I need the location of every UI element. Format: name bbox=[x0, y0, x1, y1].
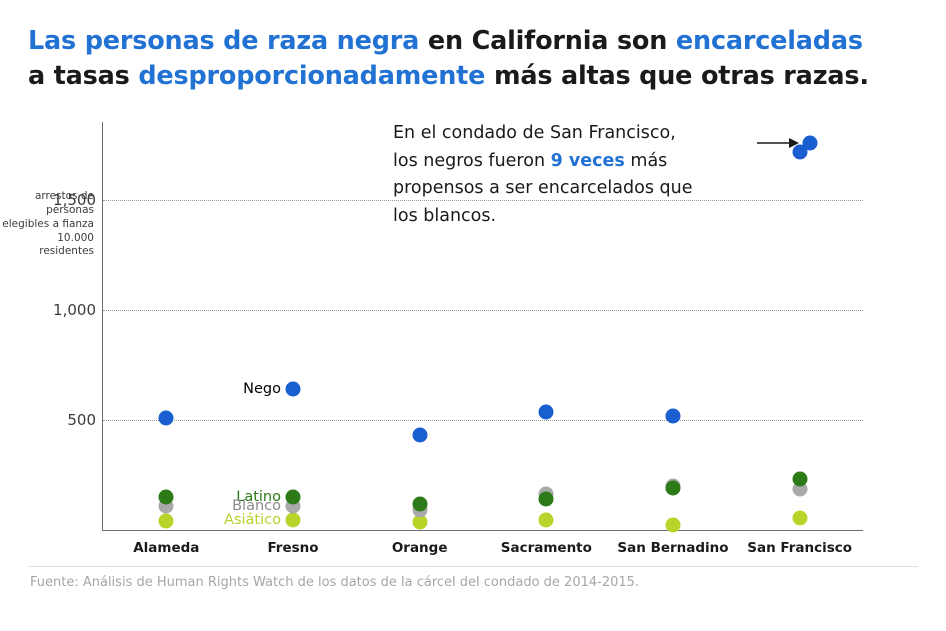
y-tick-label-1000: 1,000 bbox=[2, 301, 96, 319]
data-point-latino-sacramento[interactable] bbox=[539, 492, 554, 507]
x-tick-label-orange: Orange bbox=[392, 540, 448, 556]
right-arrow-icon bbox=[757, 136, 799, 150]
annotation-line-2-after: más bbox=[625, 151, 667, 171]
y-axis-label: arrestos de personas elegibles a fianza … bbox=[0, 190, 94, 259]
annotation-target-dot bbox=[803, 136, 818, 151]
gridline-1000 bbox=[103, 310, 863, 311]
annotation-line-1: En el condado de San Francisco, bbox=[393, 123, 676, 143]
y-axis-tick-labels: 5001,0001,500 bbox=[0, 122, 96, 531]
data-point-latino-orange[interactable] bbox=[412, 496, 427, 511]
data-point-asiatico-san-bernadino[interactable] bbox=[666, 517, 681, 532]
x-tick-label-sacramento: Sacramento bbox=[501, 540, 592, 556]
x-axis-tick-labels: AlamedaFresnoOrangeSacramentoSan Bernadi… bbox=[103, 540, 863, 562]
series-key-asiatico: Asiático bbox=[224, 512, 293, 528]
callout-annotation: En el condado de San Francisco, los negr… bbox=[393, 120, 793, 231]
x-tick-label-san-francisco: San Francisco bbox=[747, 540, 852, 556]
footer-divider bbox=[28, 566, 918, 567]
data-point-asiatico-sacramento[interactable] bbox=[539, 513, 554, 528]
x-tick-label-san-bernadino: San Bernadino bbox=[617, 540, 728, 556]
gridline-500 bbox=[103, 420, 863, 421]
y-tick-label-500: 500 bbox=[2, 411, 96, 429]
source-note: Fuente: Análisis de Human Rights Watch d… bbox=[30, 575, 639, 590]
data-point-latino-san-francisco[interactable] bbox=[792, 472, 807, 487]
data-point-latino-san-bernadino[interactable] bbox=[666, 481, 681, 496]
scatter-chart: NegoLatinoBlancoAsiático 5001,0001,500 a… bbox=[0, 0, 946, 631]
annotation-line-4: los blancos. bbox=[393, 206, 496, 226]
data-point-nego-orange[interactable] bbox=[412, 428, 427, 443]
annotation-line-3: propensos a ser encarcelados que bbox=[393, 178, 692, 198]
x-tick-label-alameda: Alameda bbox=[133, 540, 199, 556]
data-point-latino-alameda[interactable] bbox=[159, 490, 174, 505]
x-axis-line bbox=[103, 530, 863, 531]
annotation-highlight: 9 veces bbox=[551, 151, 625, 171]
x-tick-label-fresno: Fresno bbox=[267, 540, 318, 556]
annotation-line-2-before: los negros fueron bbox=[393, 151, 551, 171]
data-point-nego-san-bernadino[interactable] bbox=[666, 408, 681, 423]
data-point-asiatico-san-francisco[interactable] bbox=[792, 510, 807, 525]
data-point-asiatico-alameda[interactable] bbox=[159, 514, 174, 529]
series-key-nego: Nego bbox=[243, 381, 293, 397]
data-point-nego-alameda[interactable] bbox=[159, 410, 174, 425]
data-point-nego-sacramento[interactable] bbox=[539, 405, 554, 420]
